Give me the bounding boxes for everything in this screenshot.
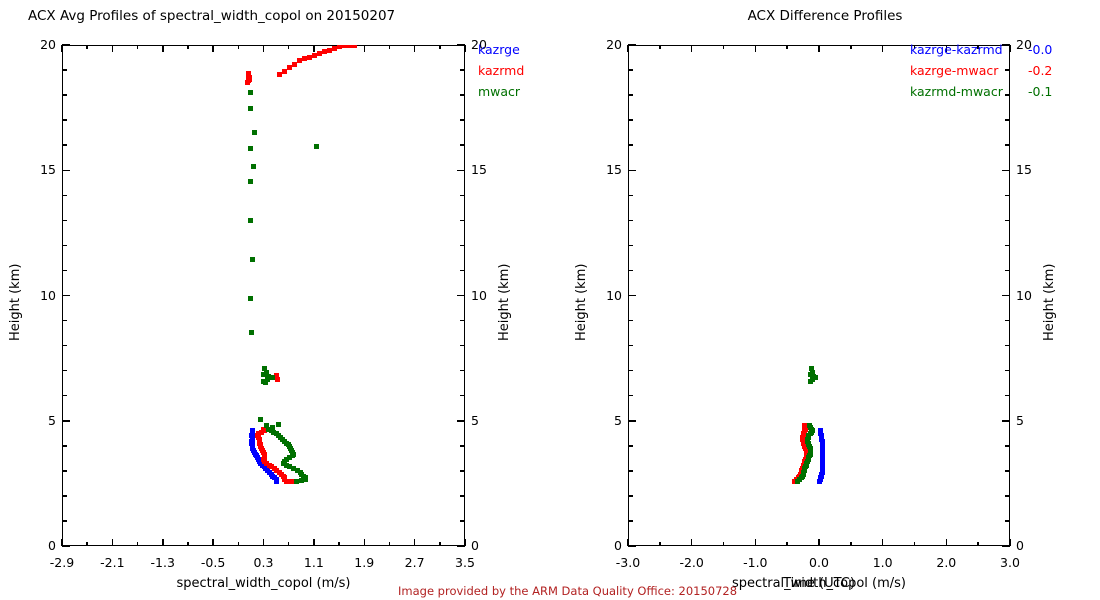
data-point-mwacr [314,144,319,149]
right-yticklabel-right: 15 [1016,162,1058,177]
data-point-mwacr [248,106,253,111]
data-point-mwacr [294,479,299,484]
figure-canvas: ACX Avg Profiles of spectral_width_copol… [0,0,1100,600]
data-point-mwacr [299,478,304,483]
left-yticklabel: 15 [14,162,56,177]
left-yticklabel: 5 [14,413,56,428]
data-point-mwacr [248,90,253,95]
right-plot-area [628,45,1010,546]
data-point-mwacr [248,296,253,301]
data-point-mwacr [276,422,281,427]
right-xticklabel: 1.0 [853,555,913,570]
legend-label: kazrge [478,42,520,57]
right-xticklabel: 0.0 [789,555,849,570]
data-point-mwacr [303,477,308,482]
left-panel: ACX Avg Profiles of spectral_width_copol… [0,0,550,600]
legend-value: -0.2 [1028,60,1052,81]
legend-entry-kazrmd[interactable]: kazrmd [478,60,524,81]
right-yticklabel: 5 [580,413,622,428]
legend-entry-mwacr[interactable]: mwacr [478,81,524,102]
right-yaxis-label: Height (km) [574,263,589,340]
left-yticklabel-right: 5 [471,413,513,428]
data-point-kazrmd [275,377,280,382]
right-yticklabel: 0 [580,538,622,553]
legend-entry-kazrge-kazrmd[interactable]: kazrge-kazrmd-0.0 [910,39,1003,60]
left-yticklabel-right: 15 [471,162,513,177]
figure-footer: Image provided by the ARM Data Quality O… [398,584,737,598]
right-yticklabel: 15 [580,162,622,177]
legend-entry-kazrge[interactable]: kazrge [478,39,524,60]
legend-entry-kazrge-mwacr[interactable]: kazrge-mwacr-0.2 [910,60,1003,81]
right-yaxis-label-right: Height (km) [1042,263,1057,340]
data-point-mwacr [250,257,255,262]
left-plot-area [62,45,465,546]
data-point-mwacr [251,164,256,169]
data-point-mwacr [258,417,263,422]
data-point-kazrmd-mwacr [808,379,813,384]
data-point-mwacr [252,130,257,135]
left-yaxis-label-right: Height (km) [497,263,512,340]
right-yticklabel-right: 0 [1016,538,1058,553]
data-point-kazrge [274,479,279,484]
data-point-mwacr [248,179,253,184]
left-yticklabel: 0 [14,538,56,553]
left-yticklabel: 20 [14,37,56,52]
data-point-kazrmd-mwacr [795,479,800,484]
left-legend: kazrgekazrmdmwacr [478,39,524,102]
right-xticklabel: 3.0 [980,555,1040,570]
legend-label: kazrmd-mwacr [910,84,1003,99]
data-point-mwacr [248,146,253,151]
right-yticklabel-right: 5 [1016,413,1058,428]
left-panel-title: ACX Avg Profiles of spectral_width_copol… [0,8,528,24]
data-point-mwacr [249,330,254,335]
legend-value: -0.0 [1028,39,1052,60]
legend-entry-kazrmd-mwacr[interactable]: kazrmd-mwacr-0.1 [910,81,1003,102]
right-xticklabel: -2.0 [662,555,722,570]
left-yaxis-label: Height (km) [8,263,23,340]
data-point-mwacr [270,375,275,380]
legend-label: mwacr [478,84,520,99]
right-xticklabel: -3.0 [598,555,658,570]
data-point-kazrmd [245,80,250,85]
right-xticklabel: 2.0 [916,555,976,570]
data-point-mwacr [263,380,268,385]
right-panel-title: ACX Difference Profiles [550,8,1100,24]
legend-label: kazrge-mwacr [910,63,998,78]
right-legend: kazrge-kazrmd-0.0kazrge-mwacr-0.2kazrmd-… [910,39,1003,102]
right-xticklabel: -1.0 [725,555,785,570]
legend-value: -0.1 [1028,81,1052,102]
right-yticklabel: 20 [580,37,622,52]
legend-label: kazrmd [478,63,524,78]
left-yticklabel-right: 0 [471,538,513,553]
legend-label: kazrge-kazrmd [910,42,1003,57]
data-point-kazrmd [352,45,357,48]
data-point-mwacr [248,218,253,223]
data-point-kazrge-kazrmd [817,479,822,484]
right-panel: ACX Difference Profiles -3.0-2.0-1.00.01… [550,0,1100,600]
left-xticklabel: 3.5 [435,555,495,570]
